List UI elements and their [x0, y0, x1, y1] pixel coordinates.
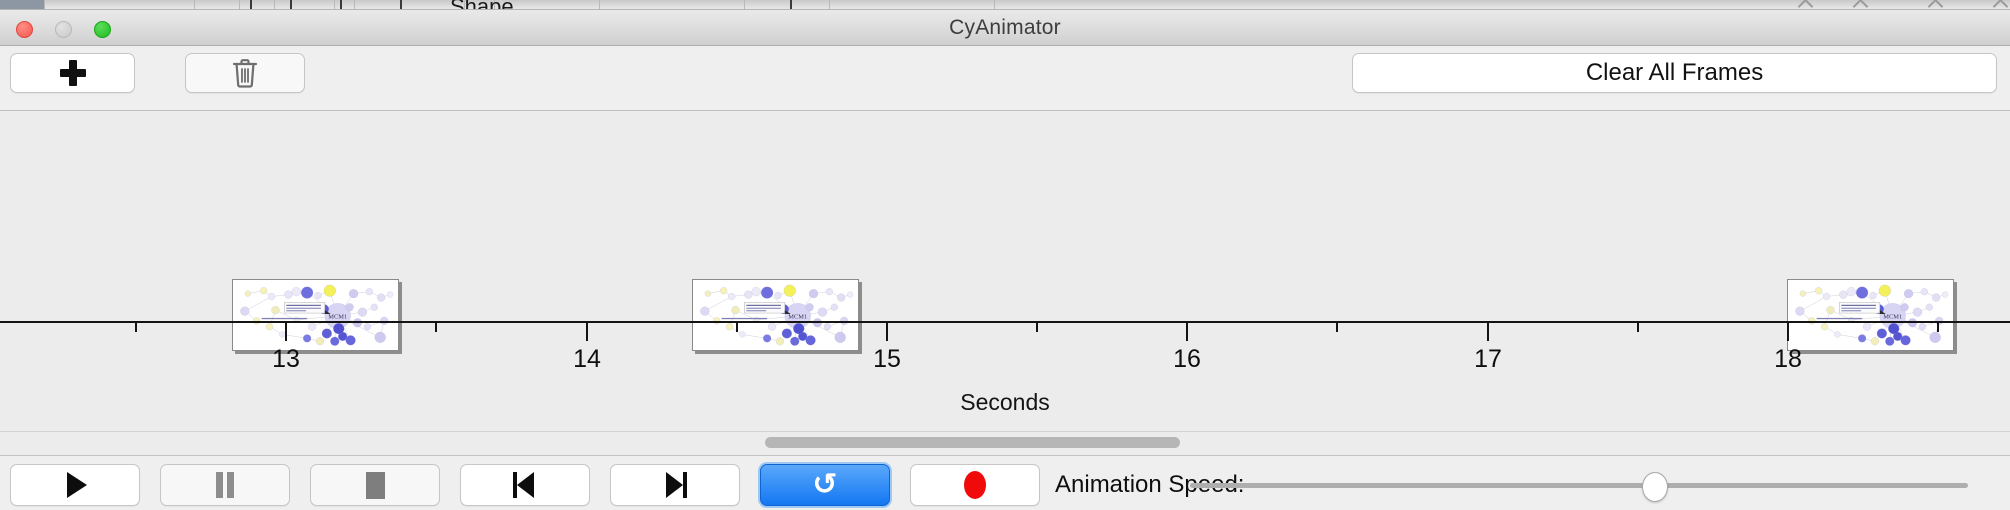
svg-text:MCM1: MCM1	[788, 313, 807, 320]
axis-major-tick	[285, 323, 287, 341]
playback-control-bar: ↺ Animation Speed:	[0, 455, 2010, 510]
window-title: CyAnimator	[0, 10, 2010, 46]
axis-tick-label: 14	[573, 345, 601, 374]
play-button[interactable]	[10, 464, 140, 506]
loop-icon: ↺	[812, 470, 837, 500]
next-frame-button[interactable]	[610, 464, 740, 506]
loop-button[interactable]: ↺	[760, 464, 890, 506]
scrollbar-thumb[interactable]	[765, 437, 1180, 448]
frame-thumbnail[interactable]: MCM1	[232, 279, 399, 351]
record-button[interactable]	[910, 464, 1040, 506]
frame-thumbnail[interactable]: MCM1	[692, 279, 859, 351]
axis-minor-tick	[1937, 323, 1939, 332]
axis-tick-label: 15	[873, 345, 901, 374]
frame-thumbnail[interactable]: MCM1	[1787, 279, 1954, 351]
axis-major-tick	[1787, 323, 1789, 341]
slider-track	[1190, 483, 1968, 488]
pause-icon	[214, 472, 236, 498]
cyanimator-window: CyAnimator Clear All Frames MC	[0, 9, 2010, 510]
stop-button[interactable]	[310, 464, 440, 506]
axis-minor-tick	[1637, 323, 1639, 332]
skip-previous-icon	[512, 472, 538, 498]
axis-tick-label: 16	[1173, 345, 1201, 374]
axis-minor-tick	[135, 323, 137, 332]
axis-major-tick	[1487, 323, 1489, 341]
network-thumbnail-graphic: MCM1	[233, 280, 398, 350]
cyanimator-window-root: Shape CyAnimator	[0, 0, 2010, 510]
slider-thumb[interactable]	[1642, 472, 1668, 502]
play-icon	[67, 472, 87, 498]
previous-frame-button[interactable]	[460, 464, 590, 506]
delete-frame-button[interactable]	[185, 53, 305, 93]
title-bar[interactable]: CyAnimator	[0, 10, 2010, 46]
network-thumbnail-graphic: MCM1	[1788, 280, 1953, 350]
axis-tick-label: 13	[272, 345, 300, 374]
frame-toolbar: Clear All Frames	[0, 46, 2010, 111]
trash-icon	[232, 58, 258, 88]
axis-major-tick	[586, 323, 588, 341]
svg-text:MCM1: MCM1	[328, 313, 347, 320]
record-icon	[964, 471, 986, 499]
axis-minor-tick	[1336, 323, 1338, 332]
axis-tick-label: 17	[1474, 345, 1502, 374]
axis-minor-tick	[435, 323, 437, 332]
axis-major-tick	[1186, 323, 1188, 341]
timeline-horizontal-scrollbar[interactable]	[0, 431, 2010, 455]
add-frame-button[interactable]	[10, 53, 135, 93]
svg-text:MCM1: MCM1	[1883, 313, 1902, 320]
axis-tick-label: 18	[1774, 345, 1802, 374]
plus-icon	[60, 60, 86, 86]
pause-button[interactable]	[160, 464, 290, 506]
timeline-axis-title: Seconds	[0, 389, 2010, 416]
skip-next-icon	[662, 472, 688, 498]
stop-icon	[366, 472, 385, 499]
clear-all-frames-label: Clear All Frames	[1586, 59, 1763, 87]
axis-major-tick	[886, 323, 888, 341]
axis-minor-tick	[736, 323, 738, 332]
axis-minor-tick	[1036, 323, 1038, 332]
animation-speed-slider[interactable]	[1190, 464, 1968, 506]
clear-all-frames-button[interactable]: Clear All Frames	[1352, 53, 1997, 93]
timeline-axis-line	[0, 321, 2010, 323]
network-thumbnail-graphic: MCM1	[693, 280, 858, 350]
frame-timeline-panel[interactable]: MCM1MCM1MCM1 12131415161718 Seconds	[0, 111, 2010, 431]
